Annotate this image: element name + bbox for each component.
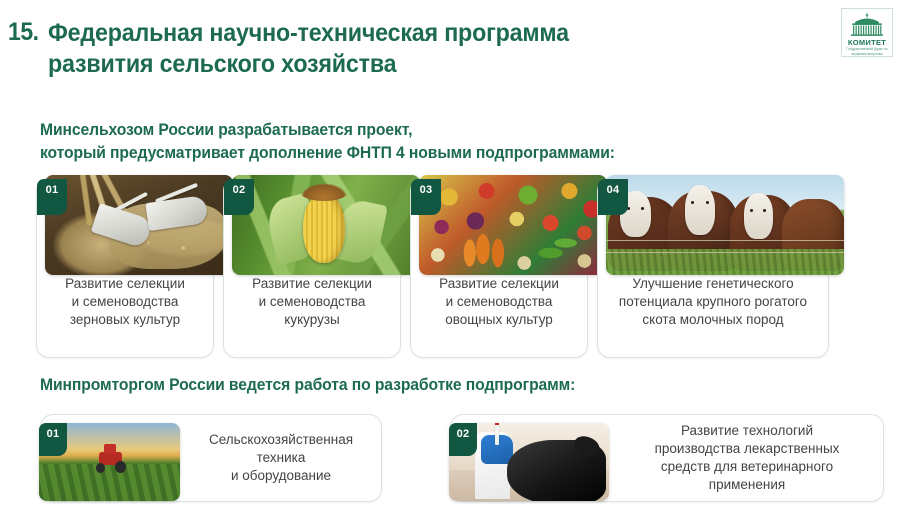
program-card-cattle[interactable]: 04 Улучшение генетического потенциала кр… [597,178,829,358]
program-card-machinery[interactable]: 01 Сельскохозяйственная техника и оборуд… [40,414,382,502]
corn-photo [232,175,420,275]
card-badge-number: 01 [37,179,67,215]
program-card-row-2: 01 Сельскохозяйственная техника и оборуд… [36,410,884,510]
slide-header: 15. Федеральная научно-техническая прогр… [8,18,828,81]
card-caption: Развитие селекции и семеноводства кукуру… [244,275,380,328]
card-badge-number: 02 [449,423,477,456]
committee-logo: КОМИТЕТ Государственной Думы по аграрным… [841,8,893,57]
card-caption: Сельскохозяйственная техника и оборудова… [189,431,381,484]
logo-subtitle: Государственной Думы по аграрным вопроса… [842,47,892,56]
card-badge-number: 01 [39,423,67,456]
section-heading-minselhoz: Минсельхозом России разрабатывается прое… [40,119,615,166]
card-badge-number: 03 [411,179,441,215]
program-card-row-1: 01 Развитие селекции и семеноводства зер… [36,178,829,358]
program-card-vegetables[interactable]: 03 Развитие селекции и семеноводства ово… [410,178,588,358]
program-card-veterinary[interactable]: 02 Развитие технологий производства лека… [450,414,884,502]
duma-building-icon [845,12,889,38]
slide-root: 15. Федеральная научно-техническая прогр… [0,0,900,521]
section-heading-minpromtorg: Минпромторгом России ведется работа по р… [40,374,575,397]
card-badge-number: 04 [598,179,628,215]
card-caption: Развитие селекции и семеноводства овощны… [431,275,567,328]
program-card-grain[interactable]: 01 Развитие селекции и семеноводства зер… [36,178,214,358]
logo-wordmark: КОМИТЕТ [848,39,886,47]
card-caption: Развитие технологий производства лекарст… [619,422,883,493]
card-caption: Развитие селекции и семеноводства зернов… [57,275,193,328]
slide-number: 15. [8,18,39,48]
grain-photo [45,175,233,275]
card-badge-number: 02 [224,179,254,215]
page-title: Федеральная научно-техническая программа… [48,18,569,81]
title-row: 15. Федеральная научно-техническая прогр… [8,18,828,81]
program-card-corn[interactable]: 02 Развитие селекции и семеноводства кук… [223,178,401,358]
vegetables-photo [419,175,607,275]
card-caption: Улучшение генетического потенциала крупн… [613,275,813,328]
cows-photo [606,175,844,275]
